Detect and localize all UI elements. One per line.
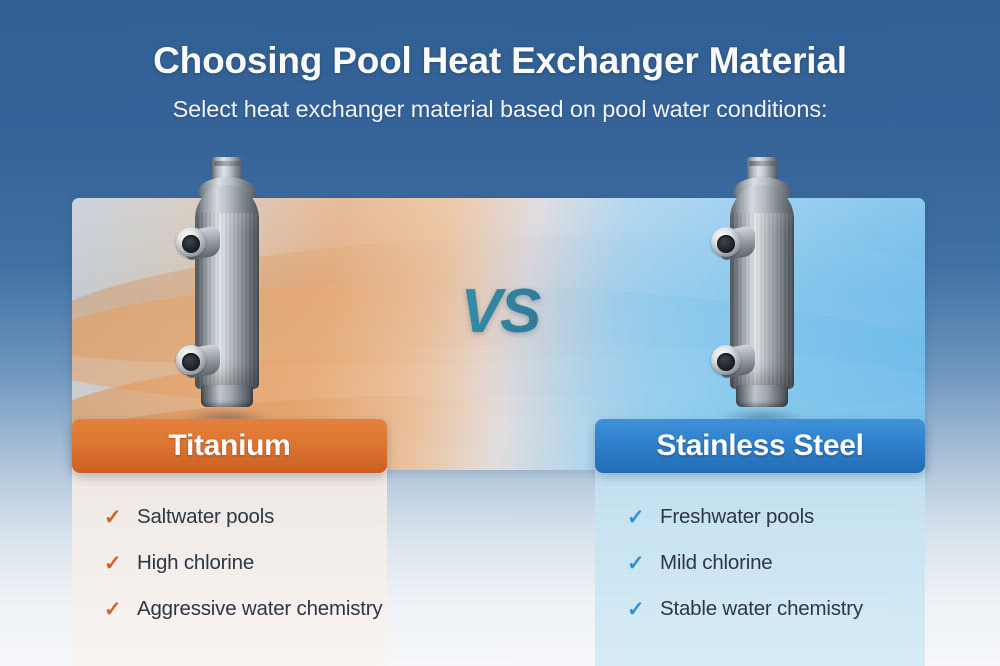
port-opening xyxy=(182,353,200,371)
bullet-label: Stable water chemistry xyxy=(660,597,863,621)
list-item: ✓ Mild chlorine xyxy=(627,540,925,586)
bullet-label: Saltwater pools xyxy=(137,505,274,529)
header: Choosing Pool Heat Exchanger Material Se… xyxy=(0,0,1000,160)
page-subtitle: Select heat exchanger material based on … xyxy=(0,96,1000,123)
check-icon: ✓ xyxy=(627,599,651,620)
check-icon: ✓ xyxy=(104,553,128,574)
port-flange xyxy=(176,345,206,375)
check-icon: ✓ xyxy=(627,507,651,528)
list-item: ✓ Freshwater pools xyxy=(627,494,925,540)
bullet-label: Aggressive water chemistry xyxy=(137,597,382,621)
port-opening xyxy=(717,235,735,253)
port-opening xyxy=(182,235,200,253)
stainless-steel-badge: Stainless Steel xyxy=(595,419,925,473)
port-flange xyxy=(711,345,741,375)
page-title: Choosing Pool Heat Exchanger Material xyxy=(0,42,1000,81)
device-port-upper xyxy=(176,225,220,261)
check-icon: ✓ xyxy=(104,599,128,620)
list-item: ✓ Aggressive water chemistry xyxy=(104,586,387,632)
versus-mark: VS xyxy=(0,276,1000,347)
titanium-badge: Titanium xyxy=(72,419,387,473)
device-port-upper xyxy=(711,225,755,261)
device-port-lower xyxy=(711,343,755,379)
port-opening xyxy=(717,353,735,371)
device-base xyxy=(201,385,253,407)
list-item: ✓ Saltwater pools xyxy=(104,494,387,540)
infographic-canvas: Choosing Pool Heat Exchanger Material Se… xyxy=(0,0,1000,666)
device-port-lower xyxy=(176,343,220,379)
stainless-bullet-list: ✓ Freshwater pools ✓ Mild chlorine ✓ Sta… xyxy=(595,494,925,632)
titanium-bullet-list: ✓ Saltwater pools ✓ High chlorine ✓ Aggr… xyxy=(72,494,387,632)
check-icon: ✓ xyxy=(627,553,651,574)
port-flange xyxy=(711,227,741,257)
titanium-bullet-card: ✓ Saltwater pools ✓ High chlorine ✓ Aggr… xyxy=(72,446,387,666)
list-item: ✓ High chlorine xyxy=(104,540,387,586)
device-base xyxy=(736,385,788,407)
bullet-label: High chlorine xyxy=(137,551,254,575)
stainless-bullet-card: ✓ Freshwater pools ✓ Mild chlorine ✓ Sta… xyxy=(595,446,925,666)
port-flange xyxy=(176,227,206,257)
bullet-label: Mild chlorine xyxy=(660,551,772,575)
list-item: ✓ Stable water chemistry xyxy=(627,586,925,632)
check-icon: ✓ xyxy=(104,507,128,528)
bullet-label: Freshwater pools xyxy=(660,505,814,529)
